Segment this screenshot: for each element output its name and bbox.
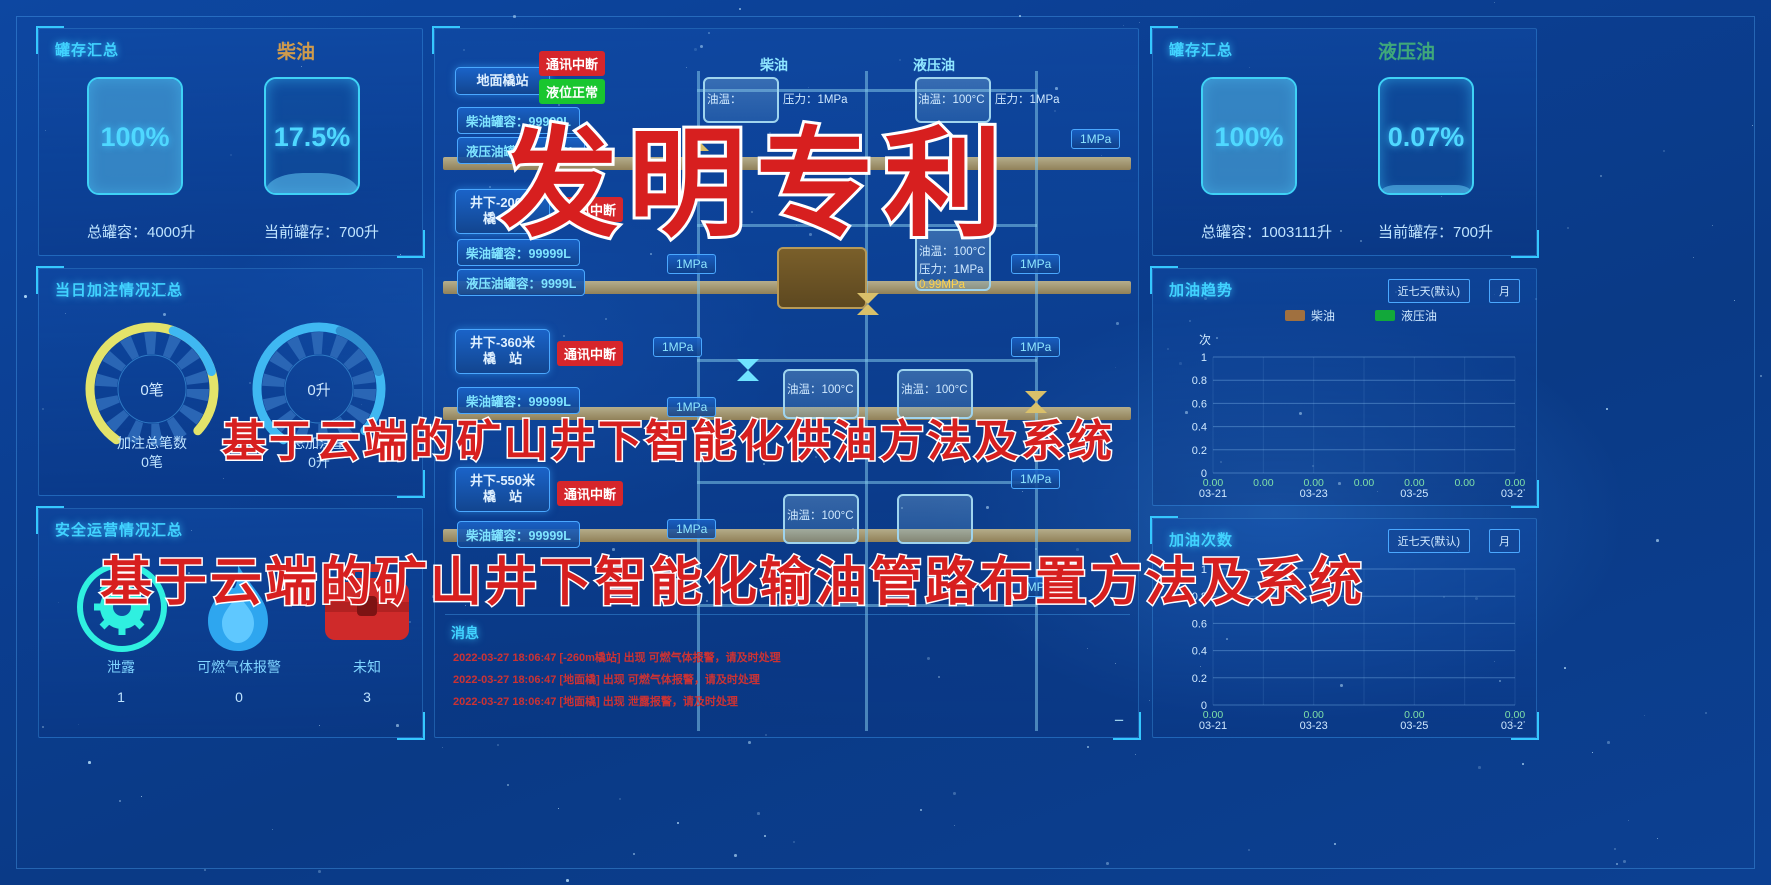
valve-icon-2[interactable] [855, 291, 881, 317]
svg-text:0.00: 0.00 [1253, 477, 1274, 489]
tank-caption: 总罐容：1003111升 [1201, 221, 1297, 242]
svg-text:1: 1 [1201, 352, 1207, 364]
message-line-1: 2022-03-27 18:06:47 [地面橇] 出现 可燃气体报警，请及时处… [453, 671, 760, 687]
dashboard-root: 罐存汇总 柴油 100% 总罐容：4000升 17.5% 当前罐存：700升 当… [0, 0, 1771, 885]
chart1-title: 加油趋势 [1169, 279, 1233, 300]
svg-text:0.00: 0.00 [1354, 477, 1375, 489]
panel-title-left-bottom: 安全运营情况汇总 [55, 519, 183, 540]
gauge-caption-line1: 加注总笔数 [117, 435, 187, 451]
legend-swatch-hydraulic [1375, 310, 1395, 321]
svg-text:0.4: 0.4 [1192, 422, 1207, 434]
svg-text:0.4: 0.4 [1192, 646, 1207, 658]
column-header-hydraulic: 液压油 [913, 55, 955, 75]
chart1-plot: 00.20.40.60.810.000.000.000.000.000.000.… [1167, 349, 1525, 499]
pressure-tag-4: 1MPa [1011, 337, 1060, 357]
tank-caption: 当前罐存：700升 [1378, 221, 1474, 242]
gauge-caption-line2: 0笔 [141, 454, 163, 470]
svg-text:0.6: 0.6 [1192, 618, 1207, 630]
tank-meta-5: 压力：1MPa [919, 261, 984, 277]
pressure-tag-7: 1MPa [667, 519, 716, 539]
watermark-line-1: 基于云端的矿山井下智能化供油方法及系统 [222, 405, 1115, 469]
safety-label-0: 泄露 [61, 657, 181, 677]
tank-unit-hydraulic-4[interactable] [897, 494, 973, 544]
legend-label-hydraulic: 液压油 [1401, 307, 1437, 324]
chart1-legend-hydraulic[interactable]: 液压油 [1375, 307, 1437, 324]
tank-caption: 总罐容：4000升 [87, 221, 183, 242]
panel-right-tank-summary: 罐存汇总 液压油 100% 总罐容：1003111升 0.07% 当前罐存：70… [1152, 28, 1537, 256]
station-name-line1: 井下-360米 [464, 335, 541, 351]
tank-current-diesel[interactable]: 17.5% 当前罐存：700升 [264, 77, 360, 242]
safety-value-0: 1 [61, 689, 181, 705]
station-box-2[interactable]: 井下-360米 橇 站 [455, 329, 550, 374]
tank-value: 100% [1203, 122, 1295, 153]
pipe-horizontal-4 [697, 481, 1037, 484]
svg-text:0.2: 0.2 [1192, 673, 1207, 685]
message-line-2: 2022-03-27 18:06:47 [地面橇] 出现 泄露报警，请及时处理 [453, 693, 738, 709]
chart1-range-month[interactable]: 月 [1489, 279, 1520, 303]
legend-label-diesel: 柴油 [1311, 307, 1335, 324]
station-badge-2-0: 通讯中断 [557, 341, 623, 366]
gauge-caption-1: 加注总笔数 0笔 [62, 434, 242, 472]
svg-text:03-27: 03-27 [1501, 488, 1525, 499]
tank-fill [266, 173, 358, 193]
panel-refuel-trend-chart: 加油趋势 近七天(默认) 月 柴油 液压油 次 00.20.40.60.810.… [1152, 268, 1537, 506]
panel-left-tank-summary: 罐存汇总 柴油 100% 总罐容：4000升 17.5% 当前罐存：700升 [38, 28, 423, 256]
tank-caption: 当前罐存：700升 [264, 221, 360, 242]
safety-value-1: 0 [179, 689, 299, 705]
tank-current-hydraulic[interactable]: 0.07% 当前罐存：700升 [1378, 77, 1474, 242]
minimize-button[interactable]: − [1114, 711, 1124, 731]
panel-title-left-top: 罐存汇总 [55, 39, 119, 60]
tank-meta-6: 0.99MPa [919, 279, 965, 291]
pressure-tag-0: 1MPa [1071, 129, 1120, 149]
panel-title-right-top: 罐存汇总 [1169, 39, 1233, 60]
station-badge-3-0: 通讯中断 [557, 481, 623, 506]
pressure-tag-2: 1MPa [1011, 254, 1060, 274]
svg-text:03-27: 03-27 [1501, 720, 1525, 731]
chart1-ylabel: 次 [1199, 331, 1211, 348]
tank-shape: 100% [1201, 77, 1297, 195]
svg-text:0.00: 0.00 [1454, 477, 1475, 489]
pressure-tag-6: 1MPa [1011, 469, 1060, 489]
station-name-line1: 地面橇站 [464, 73, 541, 89]
watermark-line-2: 基于云端的矿山井下智能化输油管路布置方法及系统 [100, 540, 1365, 615]
station-name-line2: 橇 站 [464, 351, 541, 367]
svg-text:03-21: 03-21 [1199, 488, 1227, 499]
tank-meta-9: 油温：100°C [787, 507, 854, 523]
svg-text:0.8: 0.8 [1192, 375, 1207, 387]
message-line-0: 2022-03-27 18:06:47 [-260m橇站] 出现 可燃气体报警，… [453, 649, 781, 665]
svg-text:03-23: 03-23 [1300, 488, 1328, 499]
panel-title-left-mid: 当日加注情况汇总 [55, 279, 183, 300]
messages-region: 消息 2022-03-27 18:06:47 [-260m橇站] 出现 可燃气体… [445, 614, 1130, 732]
valve-icon-3[interactable] [735, 357, 761, 383]
svg-text:03-25: 03-25 [1400, 488, 1428, 499]
pressure-tag-3: 1MPa [653, 337, 702, 357]
chart1-legend-diesel[interactable]: 柴油 [1285, 307, 1335, 324]
tank-total-diesel[interactable]: 100% 总罐容：4000升 [87, 77, 183, 242]
tank-shape: 17.5% [264, 77, 360, 195]
station-name-line1: 井下-550米 [464, 473, 541, 489]
tank-total-hydraulic[interactable]: 100% 总罐容：1003111升 [1201, 77, 1297, 242]
station-name-line2: 橇 站 [464, 489, 541, 505]
column-header-diesel: 柴油 [760, 55, 788, 75]
svg-text:0.6: 0.6 [1192, 398, 1207, 410]
chart1-svg: 00.20.40.60.810.000.000.000.000.000.000.… [1167, 349, 1525, 499]
tank-meta-8: 油温：100°C [901, 381, 968, 397]
tank-fill [1380, 185, 1472, 193]
panel-subject-diesel: 柴油 [277, 37, 315, 64]
chart1-range-seven-days[interactable]: 近七天(默认) [1388, 279, 1470, 303]
tank-value: 100% [89, 122, 181, 153]
station-cap-1-1: 液压油罐容：9999L [457, 269, 585, 296]
panel-subject-hydraulic: 液压油 [1378, 37, 1435, 64]
chart2-range-seven-days[interactable]: 近七天(默认) [1388, 529, 1470, 553]
svg-text:03-25: 03-25 [1400, 720, 1428, 731]
chart2-range-month[interactable]: 月 [1489, 529, 1520, 553]
svg-text:03-21: 03-21 [1199, 720, 1227, 731]
tank-shape: 100% [87, 77, 183, 195]
tank-meta-7: 油温：100°C [787, 381, 854, 397]
station-box-3[interactable]: 井下-550米 橇 站 [455, 467, 550, 512]
safety-label-2: 未知 [307, 657, 427, 677]
messages-title: 消息 [451, 623, 479, 643]
svg-text:0.2: 0.2 [1192, 445, 1207, 457]
safety-value-2: 3 [307, 689, 427, 705]
tank-shape: 0.07% [1378, 77, 1474, 195]
watermark-patent-title: 发明专利 [500, 88, 1012, 259]
legend-swatch-diesel [1285, 310, 1305, 321]
safety-label-1: 可燃气体报警 [179, 657, 299, 677]
tank-value: 0.07% [1380, 122, 1472, 153]
svg-text:03-23: 03-23 [1300, 720, 1328, 731]
tank-value: 17.5% [266, 122, 358, 153]
station-badge-0-0: 通讯中断 [539, 51, 605, 76]
